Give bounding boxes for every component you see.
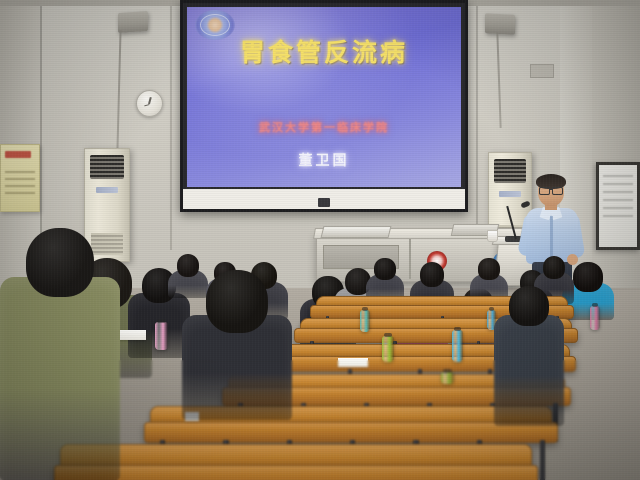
desk-surface bbox=[54, 465, 538, 480]
student-head bbox=[478, 258, 499, 280]
notice-board bbox=[0, 144, 40, 212]
ac-badge bbox=[499, 191, 521, 197]
wall-clock-icon bbox=[136, 90, 163, 117]
student bbox=[366, 258, 404, 300]
ac-grille bbox=[90, 155, 124, 179]
framed-whiteboard-text bbox=[603, 175, 633, 223]
ac-badge bbox=[96, 187, 118, 193]
screen-mount bbox=[318, 198, 330, 207]
university-emblem-icon bbox=[195, 10, 235, 40]
student-body bbox=[0, 277, 120, 480]
bottle-cap bbox=[384, 333, 392, 337]
desk-leg bbox=[540, 440, 545, 480]
student-head bbox=[543, 256, 565, 279]
notice-board-text bbox=[5, 171, 35, 199]
projection-screen: 胃食管反流病 武汉大学第一临床学院 董卫国 bbox=[180, 0, 468, 212]
bottle-cap bbox=[157, 319, 165, 323]
slide-presenter-name: 董卫国 bbox=[187, 153, 461, 167]
student bbox=[182, 270, 292, 420]
slide-subtitle: 武汉大学第一临床学院 bbox=[187, 123, 461, 134]
slide-surface: 胃食管反流病 武汉大学第一临床学院 董卫国 bbox=[187, 7, 461, 187]
bottle-cap bbox=[362, 307, 368, 311]
bottle-cap bbox=[454, 327, 461, 331]
student-head bbox=[374, 258, 395, 280]
bottle-cap bbox=[443, 369, 451, 373]
flat-monitor bbox=[321, 226, 392, 238]
water-bottle bbox=[452, 330, 463, 362]
right-wall-return bbox=[592, 0, 640, 300]
paper-sheet bbox=[338, 358, 368, 367]
student-head bbox=[420, 262, 445, 287]
speaker-icon bbox=[118, 11, 148, 33]
water-bottle bbox=[590, 306, 600, 330]
speaker-icon bbox=[485, 13, 515, 35]
student-body bbox=[494, 315, 564, 426]
student-head bbox=[573, 262, 602, 292]
student bbox=[494, 286, 564, 426]
water-bottle bbox=[360, 310, 370, 332]
bottle-cap bbox=[592, 303, 598, 307]
wall-junction-box bbox=[530, 64, 554, 78]
student-head bbox=[509, 286, 548, 326]
framed-whiteboard bbox=[596, 162, 640, 250]
water-bottle bbox=[441, 372, 454, 384]
lecture-hall-photo: 胃食管反流病 武汉大学第一临床学院 董卫国 bbox=[0, 0, 640, 480]
slide-title: 胃食管反流病 bbox=[187, 41, 461, 66]
water-bottle bbox=[382, 336, 394, 362]
glasses-icon bbox=[539, 187, 563, 193]
student-head bbox=[206, 270, 268, 333]
student bbox=[0, 228, 120, 480]
notice-board-header bbox=[5, 151, 31, 158]
wall-seam bbox=[170, 0, 172, 250]
paper-cup bbox=[487, 230, 498, 242]
water-bottle bbox=[155, 322, 168, 350]
student-head bbox=[26, 228, 93, 297]
